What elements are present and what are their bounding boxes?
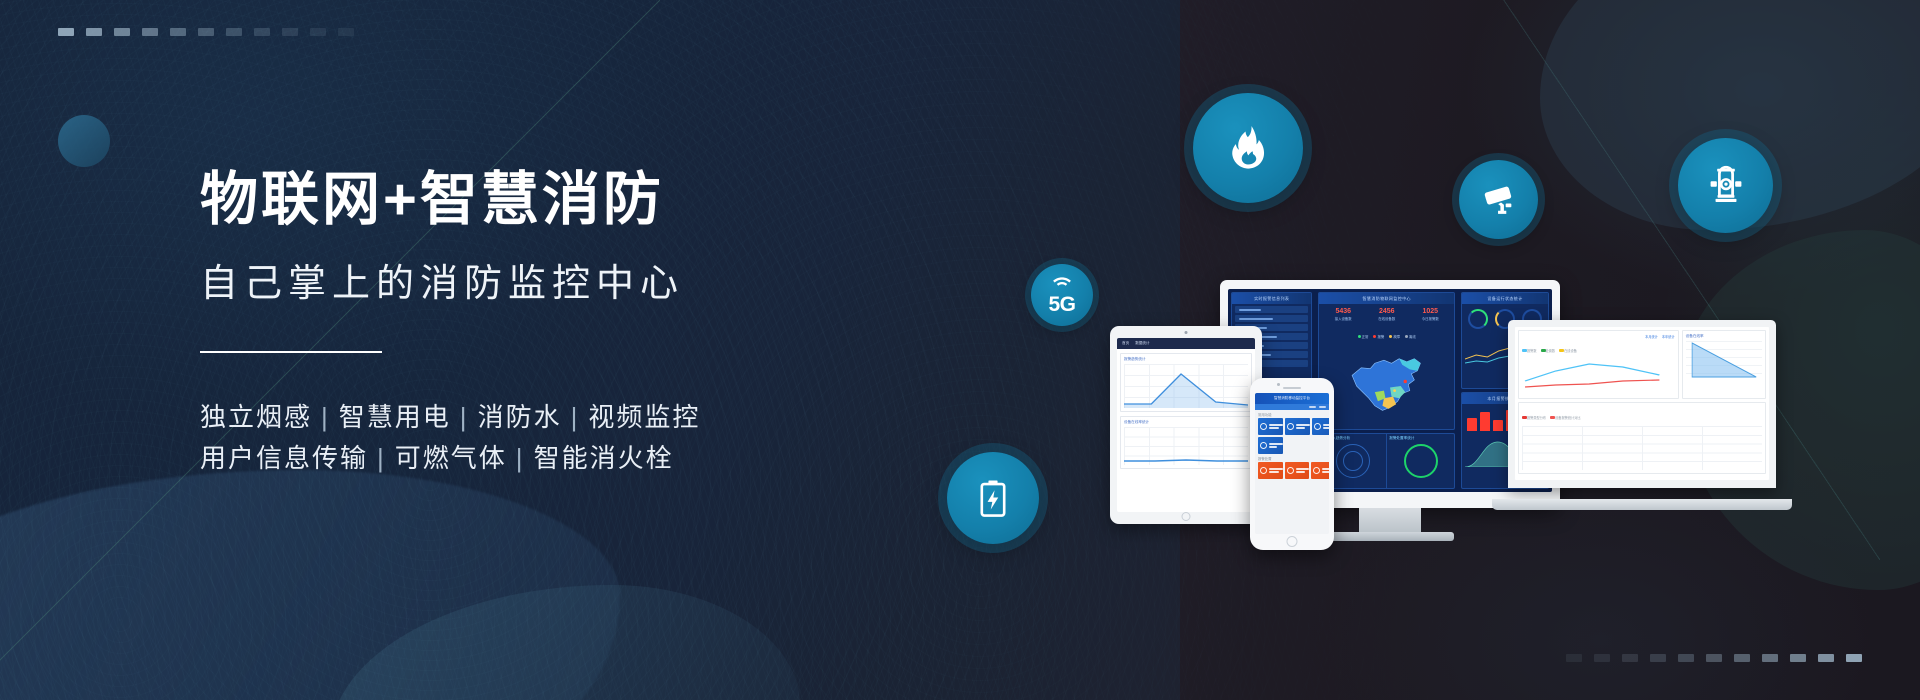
legend-item: 设备报警统计对比 <box>1550 406 1581 424</box>
map-legend: 正常 报警 故障 离线 <box>1319 323 1454 345</box>
ring-progress <box>1404 444 1438 478</box>
card-title: 设备在线率 <box>1686 334 1762 339</box>
tablet-line-chart <box>1124 364 1248 408</box>
china-map-svg <box>1341 345 1433 421</box>
tablet-nav-home[interactable]: 首页 <box>1122 341 1129 346</box>
kpi-item: 5436 接入设备数 <box>1335 308 1352 321</box>
device-mockup-group: 实时报警信息列表 <box>1120 280 1800 580</box>
phone-tile[interactable] <box>1258 437 1283 454</box>
battery-icon <box>972 477 1014 519</box>
tablet-card-1: 报警趋势统计 <box>1120 353 1252 412</box>
tablet-nav-stats[interactable]: 数据统计 <box>1135 341 1149 346</box>
map-bottom-panels: 设备接入趋势分析 报警处置率统计 <box>1318 433 1455 489</box>
tablet-camera-icon <box>1185 331 1188 334</box>
phone-speaker <box>1283 387 1301 389</box>
pane-title: 智慧消防物联网监控中心 <box>1363 296 1411 302</box>
decorative-dash-row-bottom-right <box>1566 654 1862 662</box>
monitor-stand <box>1359 508 1421 534</box>
kpi-value: 5436 <box>1335 308 1352 316</box>
tile-icon <box>1287 467 1294 474</box>
fire-icon-badge <box>1193 93 1303 203</box>
phone-tile[interactable] <box>1258 418 1283 435</box>
legend-label: 处置数 <box>1546 349 1556 353</box>
kpi-item: 1025 今日报警数 <box>1422 308 1439 321</box>
kpi-label: 接入设备数 <box>1335 316 1352 321</box>
laptop-bar-card: 本月统计 本年统计 报警数 处置数 在线设备 <box>1518 330 1679 399</box>
pane-header: 设备运行状态统计 <box>1462 293 1548 304</box>
title-divider <box>200 351 382 353</box>
decorative-dash <box>1846 654 1862 662</box>
panel-title: 报警处置率统计 <box>1389 436 1452 441</box>
feature-separator: | <box>312 402 339 432</box>
pane-header: 智慧消防物联网监控中心 <box>1319 293 1454 304</box>
decorative-dash <box>1706 654 1722 662</box>
decorative-dash <box>338 28 354 36</box>
feature-item: 用户信息传输 <box>200 443 368 473</box>
feature-item: 视频监控 <box>588 402 700 432</box>
decorative-dash <box>114 28 130 36</box>
tile-icon <box>1314 423 1321 430</box>
decorative-dash <box>310 28 326 36</box>
feature-item: 可燃气体 <box>395 443 507 473</box>
legend-label: 正常 <box>1362 335 1369 339</box>
camera-icon-badge <box>1459 160 1538 239</box>
page-title: 物联网+智慧消防 <box>200 168 960 232</box>
legend-item: 报警类型分布 <box>1522 406 1546 424</box>
tile-icon <box>1313 467 1320 474</box>
legend-label: 在线设备 <box>1564 349 1577 353</box>
mobile-phone: 智慧消防移动监控平台 常用功能 报警处置 <box>1250 378 1334 550</box>
feature-list: 独立烟感|智慧用电|消防水|视频监控 用户信息传输|可燃气体|智能消火栓 <box>200 397 960 480</box>
decorative-dash <box>1790 654 1806 662</box>
decorative-circle-top-left <box>58 115 110 167</box>
tab-month[interactable]: 本月统计 <box>1645 334 1658 339</box>
decorative-dash <box>170 28 186 36</box>
feature-line-2: 用户信息传输|可燃气体|智能消火栓 <box>200 438 960 480</box>
kpi-value: 2456 <box>1378 308 1395 316</box>
dashboard-center-column: 智慧消防物联网监控中心 5436 接入设备数 2456 在线设备数 <box>1315 289 1458 492</box>
decorative-dash <box>1762 654 1778 662</box>
decorative-dash <box>1622 654 1638 662</box>
laptop-lid: 本月统计 本年统计 报警数 处置数 在线设备 <box>1508 320 1776 488</box>
hydrant-icon-badge <box>1678 138 1773 233</box>
kpi-label: 今日报警数 <box>1422 316 1439 321</box>
camera-icon <box>1480 181 1518 219</box>
list-item <box>1235 315 1308 322</box>
legend-item: 处置数 <box>1541 339 1556 357</box>
feature-separator: | <box>368 443 395 473</box>
phone-tile-grid-orange <box>1255 462 1329 479</box>
legend-item: 故障 <box>1389 325 1400 343</box>
legend-label: 设备报警统计对比 <box>1555 416 1581 420</box>
kpi-row: 5436 接入设备数 2456 在线设备数 1025 今日报警数 <box>1319 304 1454 323</box>
hero-copy: 物联网+智慧消防 自己掌上的消防监控中心 独立烟感|智慧用电|消防水|视频监控 … <box>200 168 960 480</box>
decorative-dash <box>1650 654 1666 662</box>
feature-separator: | <box>507 443 534 473</box>
legend-item: 报警 <box>1373 325 1384 343</box>
tablet-card-2: 设备在线率统计 <box>1120 416 1252 469</box>
tablet-home-button[interactable] <box>1182 512 1191 521</box>
kpi-value: 1025 <box>1422 308 1439 316</box>
decorative-dash <box>1818 654 1834 662</box>
pane-title: 设备运行状态统计 <box>1487 296 1522 302</box>
tablet-screen: 首页 数据统计 报警趋势统计 设备在线率统计 <box>1117 338 1255 512</box>
decorative-dash <box>1594 654 1610 662</box>
phone-tile[interactable] <box>1311 462 1329 479</box>
phone-header: 智慧消防移动监控平台 <box>1255 393 1329 404</box>
page-subtitle: 自己掌上的消防监控中心 <box>200 252 960 307</box>
legend-label: 离线 <box>1409 335 1416 339</box>
laptop-legend: 报警数 处置数 在线设备 <box>1522 339 1675 357</box>
tablet-topbar: 首页 数据统计 <box>1117 338 1255 349</box>
phone-header-title: 智慧消防移动监控平台 <box>1274 396 1310 401</box>
tablet-flat-chart <box>1124 427 1248 465</box>
tile-icon <box>1260 442 1267 449</box>
hero-banner: 物联网+智慧消防 自己掌上的消防监控中心 独立烟感|智慧用电|消防水|视频监控 … <box>0 0 1920 700</box>
legend-label: 报警数 <box>1527 349 1537 353</box>
phone-home-button[interactable] <box>1287 536 1298 547</box>
tile-icon <box>1287 423 1294 430</box>
feature-item: 消防水 <box>478 402 562 432</box>
feature-separator: | <box>451 402 478 432</box>
phone-tile[interactable] <box>1258 462 1283 479</box>
pane-header: 实时报警信息列表 <box>1232 293 1311 304</box>
feature-separator: | <box>562 402 589 432</box>
5g-icon-label: 5G <box>1048 294 1075 315</box>
decorative-dash <box>142 28 158 36</box>
decorative-dash-row-top-left <box>58 28 354 36</box>
tile-icon <box>1260 423 1267 430</box>
legend-item: 报警数 <box>1522 339 1537 357</box>
5g-icon: 5G <box>1048 276 1075 315</box>
legend-item: 离线 <box>1405 325 1416 343</box>
legend-label: 故障 <box>1393 335 1400 339</box>
decorative-dash <box>86 28 102 36</box>
phone-tile[interactable] <box>1285 462 1309 479</box>
laptop-line-overlay <box>1522 359 1675 395</box>
tablet-device: 首页 数据统计 报警趋势统计 设备在线率统计 <box>1110 326 1262 524</box>
monitor-base <box>1326 532 1454 541</box>
phone-group-title: 常用功能 <box>1255 410 1329 418</box>
kpi-label: 在线设备数 <box>1378 316 1395 321</box>
card-title: 设备在线率统计 <box>1124 420 1248 425</box>
decorative-dash <box>58 28 74 36</box>
kpi-item: 2456 在线设备数 <box>1378 308 1395 321</box>
tab-year[interactable]: 本年统计 <box>1662 334 1675 339</box>
decorative-dash <box>1566 654 1582 662</box>
laptop-chart-row: 本月统计 本年统计 报警数 处置数 在线设备 <box>1518 330 1766 399</box>
feature-item: 智能消火栓 <box>534 443 674 473</box>
battery-icon-badge <box>947 452 1039 544</box>
phone-group-title: 报警处置 <box>1255 454 1329 462</box>
phone-tile[interactable] <box>1312 418 1329 435</box>
china-map <box>1319 345 1454 421</box>
feature-line-1: 独立烟感|智慧用电|消防水|视频监控 <box>200 397 960 439</box>
map-pane: 智慧消防物联网监控中心 5436 接入设备数 2456 在线设备数 <box>1318 292 1455 430</box>
laptop-screen: 本月统计 本年统计 报警数 处置数 在线设备 <box>1515 327 1769 480</box>
feature-item: 独立烟感 <box>200 402 312 432</box>
decorative-dash <box>282 28 298 36</box>
laptop-grid-chart <box>1522 426 1762 470</box>
legend-label: 报警类型分布 <box>1527 416 1546 420</box>
tile-icon <box>1260 467 1267 474</box>
list-item <box>1235 306 1308 313</box>
decorative-dash <box>1678 654 1694 662</box>
decorative-dash <box>226 28 242 36</box>
decorative-dash <box>254 28 270 36</box>
decorative-dash <box>1734 654 1750 662</box>
legend-item: 在线设备 <box>1559 339 1577 357</box>
phone-tile[interactable] <box>1285 418 1310 435</box>
legend-item: 正常 <box>1358 325 1369 343</box>
card-title: 报警趋势统计 <box>1124 357 1248 362</box>
decorative-dash <box>198 28 214 36</box>
phone-camera-icon <box>1277 383 1280 386</box>
fire-icon <box>1222 122 1274 174</box>
laptop-area-chart <box>1686 341 1762 381</box>
ring-panel: 报警处置率统计 <box>1387 434 1454 488</box>
radar-chart <box>1336 444 1370 478</box>
laptop-device: 本月统计 本年统计 报警数 处置数 在线设备 <box>1508 320 1776 510</box>
hydrant-icon <box>1704 164 1748 208</box>
5g-icon-badge: 5G <box>1031 264 1093 326</box>
feature-item: 智慧用电 <box>339 402 451 432</box>
laptop-bottom-legend: 报警类型分布 设备报警统计对比 <box>1522 406 1762 424</box>
phone-screen: 智慧消防移动监控平台 常用功能 报警处置 <box>1255 393 1329 534</box>
laptop-area-card: 设备在线率 <box>1682 330 1766 399</box>
gauge <box>1468 309 1488 329</box>
laptop-bottom-card: 报警类型分布 设备报警统计对比 <box>1518 402 1766 474</box>
legend-label: 报警 <box>1377 335 1384 339</box>
laptop-base <box>1492 499 1792 510</box>
pane-title: 实时报警信息列表 <box>1254 296 1289 302</box>
phone-tile-grid-blue <box>1255 418 1329 454</box>
